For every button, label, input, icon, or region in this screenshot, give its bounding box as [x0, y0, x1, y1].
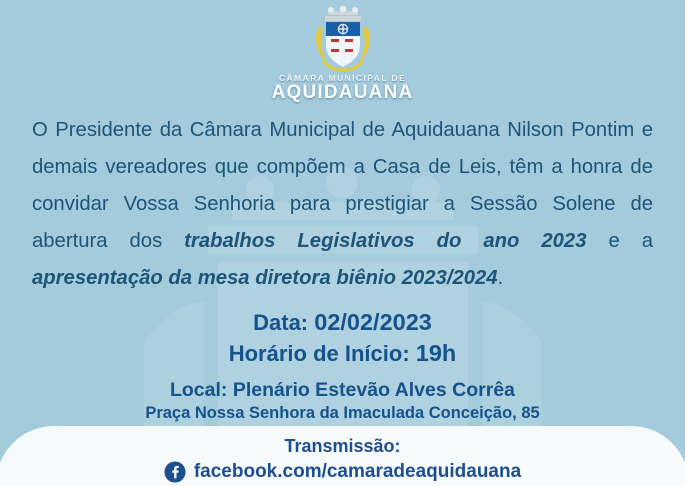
coat-of-arms-icon — [312, 6, 374, 72]
invitation-text: O Presidente da Câmara Municipal de Aqui… — [32, 112, 653, 297]
venue-block: Local: Plenário Estevão Alves Corrêa Pra… — [0, 378, 685, 424]
broadcast-panel: Transmissão: facebook.com/camaradeaquida… — [0, 426, 685, 486]
event-time-value: 19h — [416, 340, 457, 366]
invitation-connector: e a — [587, 230, 654, 252]
invitation-end: . — [498, 267, 504, 289]
broadcast-title: Transmissão: — [0, 426, 685, 458]
venue-address: Praça Nossa Senhora da Imaculada Conceiç… — [0, 402, 685, 424]
facebook-icon[interactable] — [164, 461, 186, 483]
institution-header: CÂMARA MUNICIPAL DE AQUIDAUANA — [0, 6, 685, 103]
event-time-label: Horário de Início: — [229, 341, 416, 366]
event-details: Data: 02/02/2023 Horário de Início: 19h — [0, 307, 685, 369]
broadcast-link[interactable]: facebook.com/camaradeaquidauana — [0, 460, 685, 484]
event-date-value: 02/02/2023 — [314, 309, 432, 335]
invitation-paragraph: O Presidente da Câmara Municipal de Aqui… — [32, 112, 653, 297]
event-invitation-card: CÂMARA MUNICIPAL DE AQUIDAUANA O Preside… — [0, 0, 685, 486]
event-time-row: Horário de Início: 19h — [0, 338, 685, 369]
invitation-emphasis-1: trabalhos Legislativos do ano 2023 — [184, 230, 586, 252]
invitation-emphasis-2: apresentação da mesa diretora biênio 202… — [32, 267, 498, 289]
venue-title: Local: Plenário Estevão Alves Corrêa — [0, 378, 685, 402]
event-date-label: Data: — [253, 310, 314, 335]
broadcast-handle[interactable]: facebook.com/camaradeaquidauana — [194, 460, 521, 484]
institution-line-2: AQUIDAUANA — [272, 83, 414, 103]
event-date-row: Data: 02/02/2023 — [0, 307, 685, 338]
